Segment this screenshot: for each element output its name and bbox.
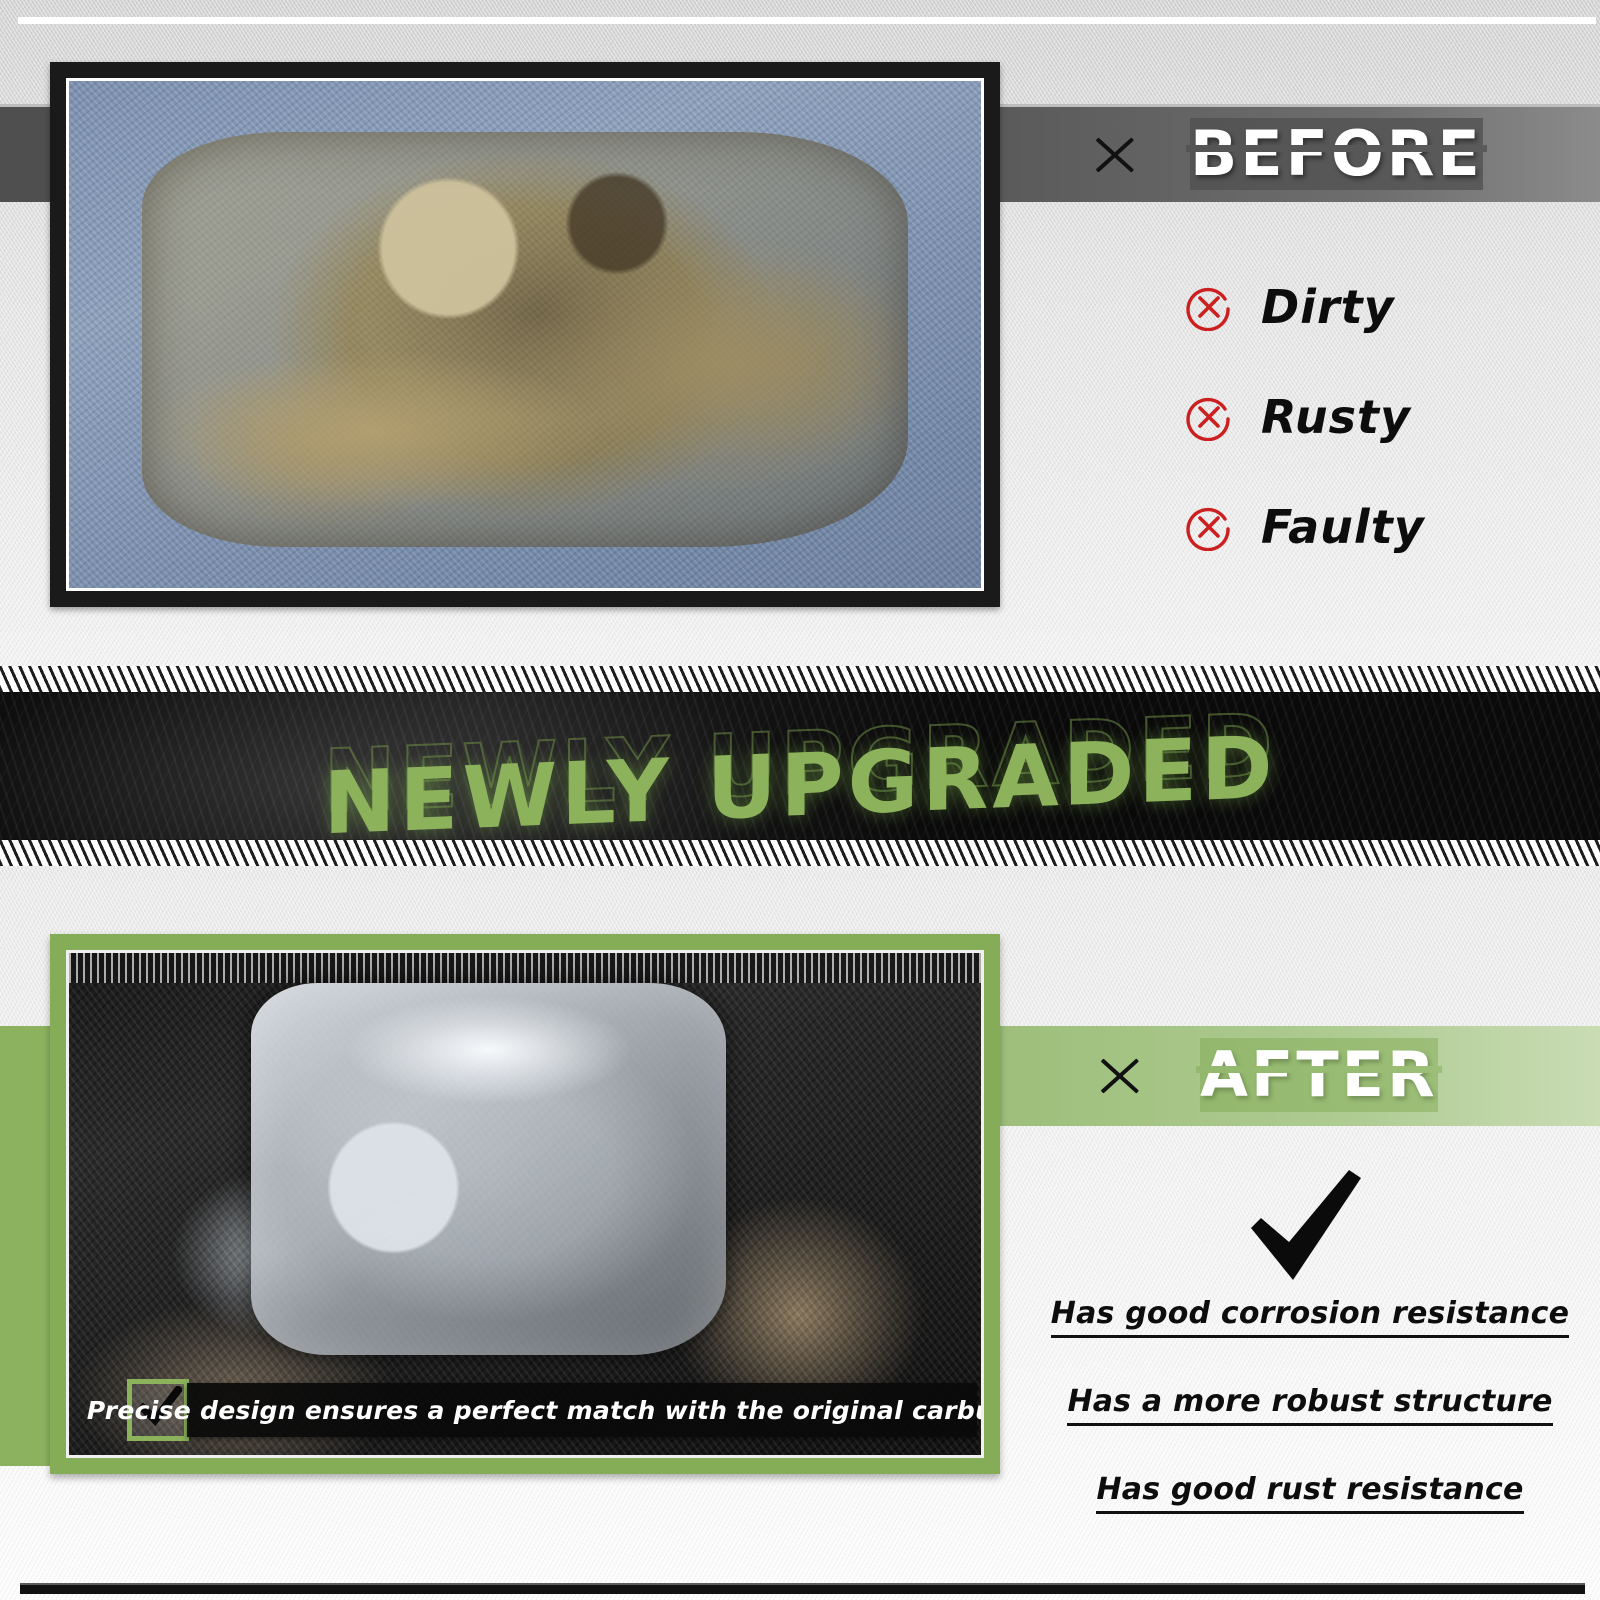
hatch-divider-bottom	[0, 840, 1600, 866]
before-section: BEFORE Dirty	[0, 0, 1600, 666]
chevron-right-icon	[1100, 1042, 1164, 1106]
checkmark-icon	[1245, 1166, 1365, 1286]
circle-x-icon	[1185, 503, 1233, 551]
before-title: BEFORE	[1190, 118, 1483, 190]
after-section: AFTER Precise design ensures a perfect m…	[0, 866, 1600, 1600]
list-item: Rusty	[1185, 390, 1585, 444]
list-item: Dirty	[1185, 280, 1585, 334]
circle-x-icon	[1185, 393, 1233, 441]
bottom-divider-rule	[20, 1583, 1585, 1594]
circle-x-icon	[1185, 283, 1233, 331]
top-divider-rule	[18, 17, 1596, 24]
after-caption-bar: Precise design ensures a perfect match w…	[187, 1383, 977, 1437]
issue-label: Dirty	[1261, 280, 1395, 334]
hatch-divider-top	[0, 666, 1600, 692]
issue-label: Rusty	[1261, 390, 1411, 444]
infographic-page: BEFORE Dirty	[0, 0, 1600, 1600]
after-title: AFTER	[1200, 1038, 1438, 1112]
benefit-item: Has a more robust structure	[1067, 1384, 1552, 1426]
after-title-text: AFTER	[1200, 1038, 1438, 1111]
list-item: Faulty	[1185, 500, 1585, 554]
after-photo-frame: Precise design ensures a perfect match w…	[50, 934, 1000, 1474]
benefit-item: Has good rust resistance	[1096, 1472, 1523, 1514]
after-photo: Precise design ensures a perfect match w…	[66, 950, 984, 1458]
before-title-text: BEFORE	[1190, 117, 1483, 190]
after-caption-text: Precise design ensures a perfect match w…	[87, 1396, 984, 1425]
before-photo	[66, 78, 984, 591]
before-issue-list: Dirty Rusty	[1185, 280, 1585, 610]
issue-label: Faulty	[1261, 500, 1425, 554]
upgrade-title-wrap: NEWLY UPGRADED NEWLY UPGRADED	[0, 666, 1600, 866]
chevron-right-icon	[1095, 121, 1159, 185]
newly-upgraded-banner: NEWLY UPGRADED NEWLY UPGRADED	[0, 666, 1600, 866]
before-photo-frame	[50, 62, 1000, 607]
benefit-item: Has good corrosion resistance	[1051, 1296, 1569, 1338]
after-benefit-list: Has good corrosion resistance Has a more…	[1030, 1296, 1590, 1560]
